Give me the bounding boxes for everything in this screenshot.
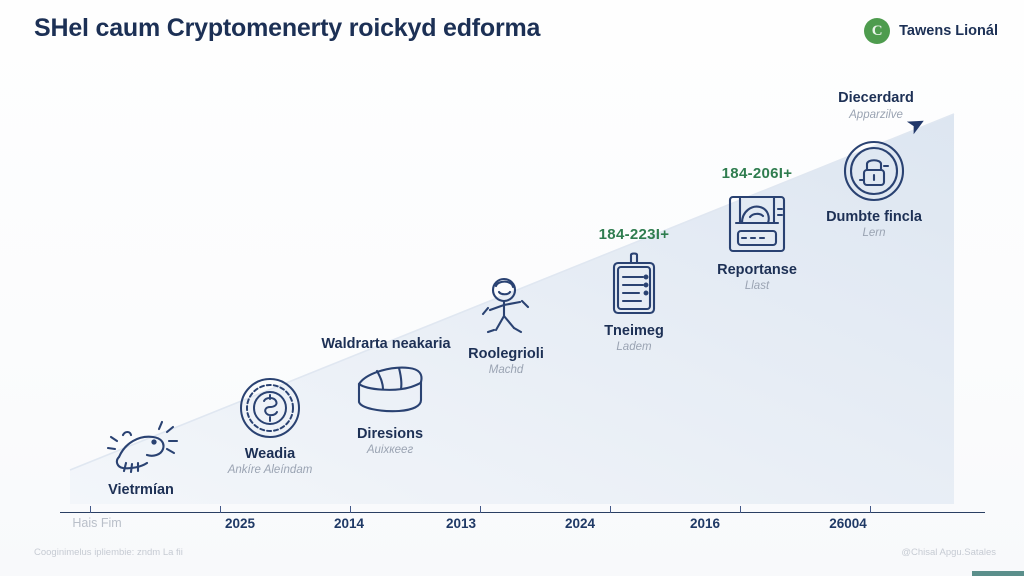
milestone-3-label: Diresions [290,426,490,442]
axis-tick [740,506,741,513]
float-label-2-title: Diecerdard [756,90,996,106]
footer-note-left: Cooginimelus ipliembie: zndm La fii [34,547,183,558]
brand-lockup: C Tawens Lionál [864,18,998,44]
axis-tick [480,506,481,513]
coin-lock-icon [774,135,974,207]
milestone-1-label: Vietrmían [41,482,241,498]
brand-name: Tawens Lionál [899,23,998,39]
float-label-2: Diecerdard Apparzilve [756,90,996,121]
milestone-5-sub: Ladem [534,341,734,353]
axis-label-3: 2013 [446,516,476,531]
milestone-7-label: Dumbte fincla [774,209,974,225]
axis-label-2: 2014 [334,516,364,531]
axis-tick [870,506,871,513]
axis-label-0: Hais Fim [72,516,121,530]
axis-label-5: 2016 [690,516,720,531]
axis-tick [220,506,221,513]
axis-label-1: 2025 [225,516,255,531]
brand-logo-icon: C [864,18,890,44]
milestone-5-label: Tneimeg [534,323,734,339]
axis-label-6: 26004 [829,516,867,531]
milestone-6-sub: Llast [657,280,857,292]
axis-label-4: 2024 [565,516,595,531]
axis-tick [90,506,91,513]
milestone-2-sub: Ankíre Aleíndam [170,464,370,476]
slide-root: SHel caum Cryptomenerty roickyd edforma … [0,0,1024,576]
milestone-3-sub: Аиіхкеег [290,444,490,456]
float-label-2-sub: Apparzilve [756,109,996,121]
accent-bar [972,571,1024,576]
axis-tick [350,506,351,513]
footer-note-right: @Chisal Apgu.Satales [901,547,996,558]
milestone-7-sub: Lern [774,227,974,239]
page-title: SHel caum Cryptomenerty roickyd edforma [34,14,540,43]
milestone-6-label: Reportanse [657,262,857,278]
x-axis-line [60,512,985,513]
axis-tick [610,506,611,513]
slide-header: SHel caum Cryptomenerty roickyd edforma … [0,0,1024,62]
milestone-4-sub: Machd [406,364,606,376]
milestone-node-7[interactable]: Dumbte fincla Lern [774,135,974,239]
